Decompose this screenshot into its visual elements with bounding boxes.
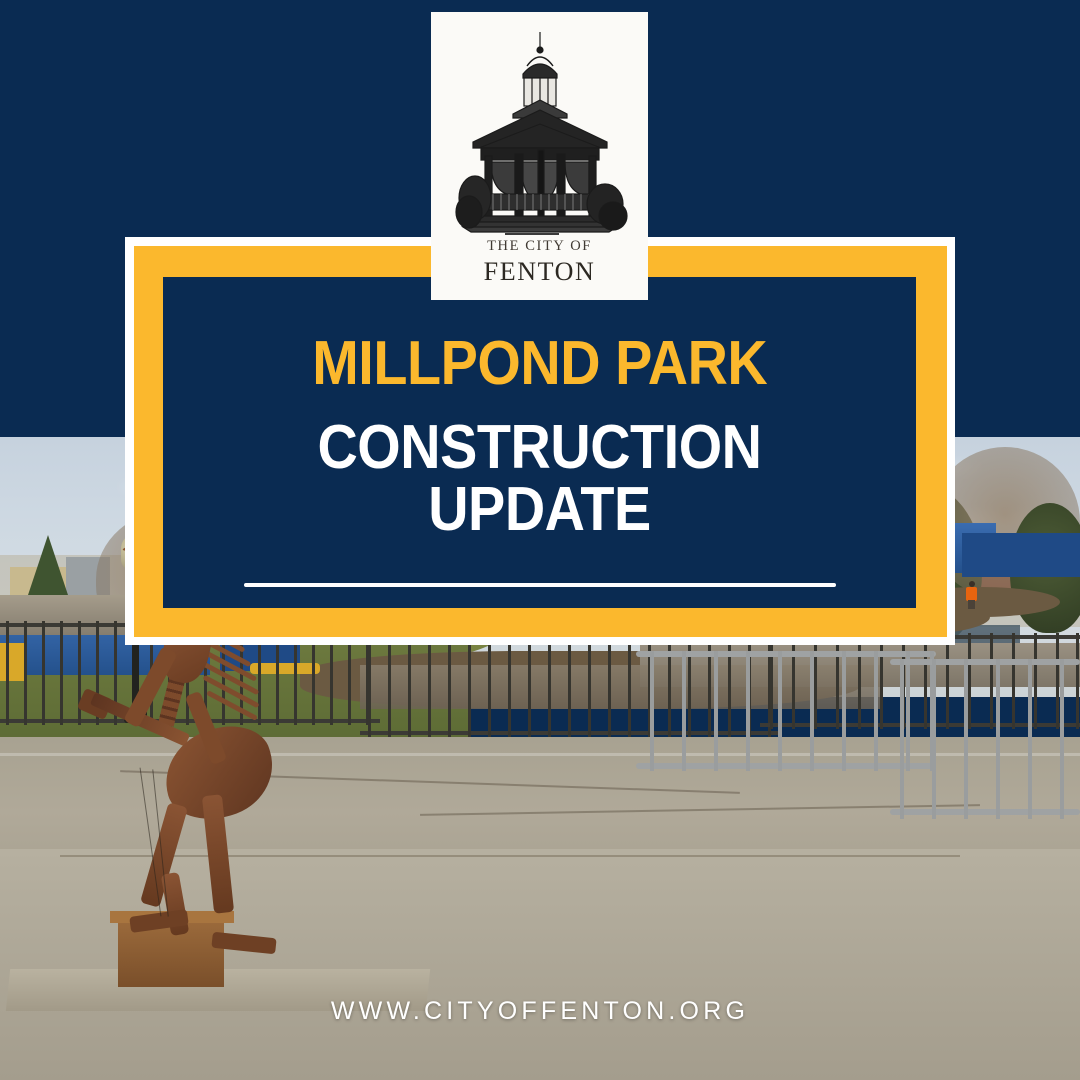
gazebo-illustration-icon (445, 26, 635, 236)
logo-line-the-city-of: THE CITY OF (431, 238, 648, 255)
page-title-primary: MILLPOND PARK (312, 333, 767, 395)
worker-legs (968, 600, 975, 609)
logo-wordmark: THE CITY OF FENTON (431, 236, 648, 287)
construction-tarp (962, 533, 1080, 577)
worker-safety-vest (966, 587, 977, 601)
construction-barricade (890, 659, 1080, 819)
construction-worker (966, 581, 977, 609)
website-url[interactable]: WWW.CITYOFFENTON.ORG (0, 997, 1080, 1026)
headline-card-body: MILLPOND PARK CONSTRUCTION UPDATE (163, 277, 916, 608)
page-title-secondary: CONSTRUCTION UPDATE (201, 417, 879, 541)
poster-canvas: MILLPOND PARK CONSTRUCTION UPDATE (0, 0, 1080, 1080)
title-divider-rule (244, 583, 836, 587)
headline-card-gold-border: MILLPOND PARK CONSTRUCTION UPDATE (134, 246, 947, 637)
city-logo-card: THE CITY OF FENTON (431, 12, 648, 300)
logo-line-fenton: FENTON (431, 257, 648, 287)
